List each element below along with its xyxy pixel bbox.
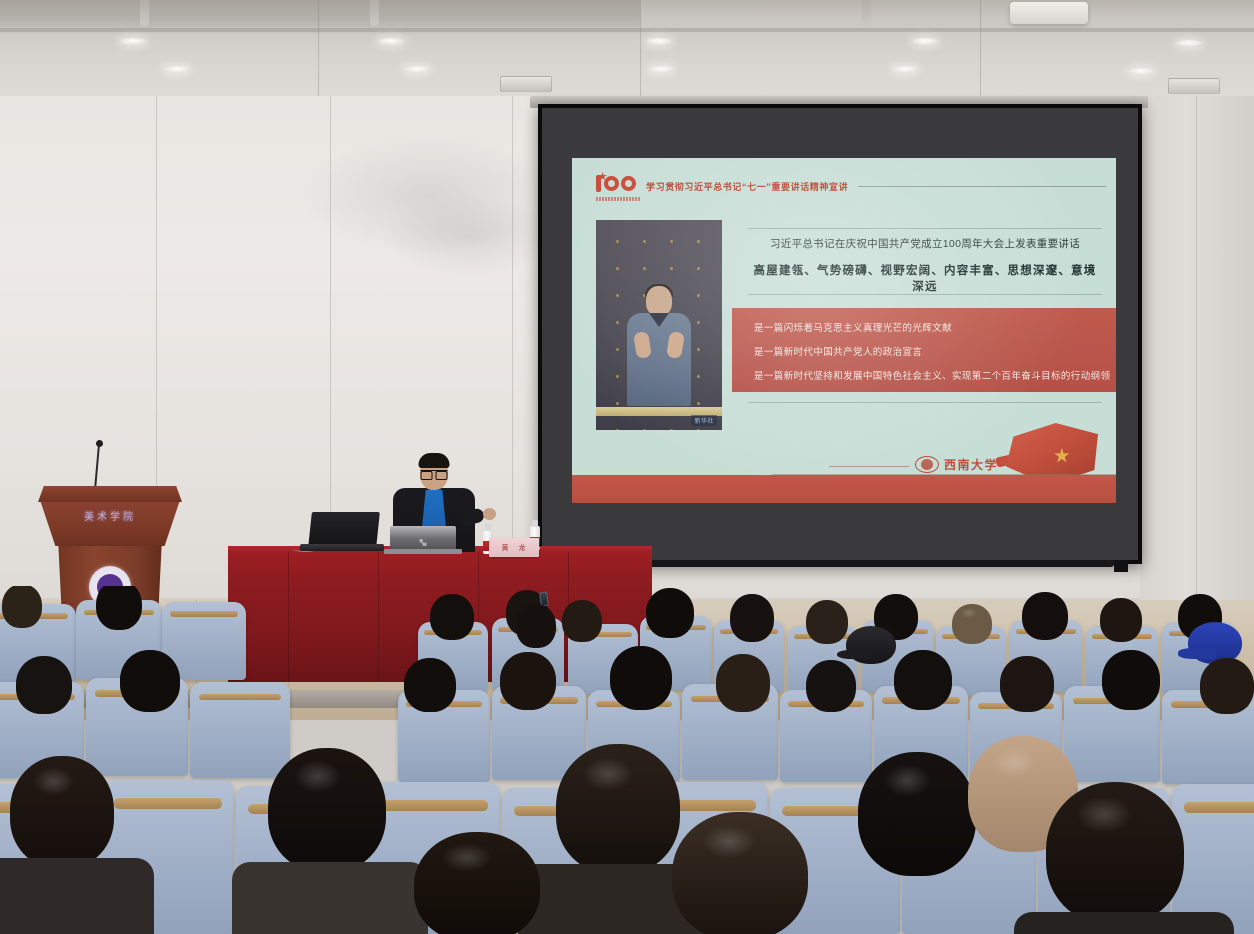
ceiling-downlight	[120, 38, 146, 45]
attendee-head	[120, 650, 180, 712]
photo-watermark: 新华社	[691, 415, 717, 426]
figure-head	[646, 286, 672, 316]
ceiling-band	[0, 28, 1254, 32]
audience-seating	[0, 586, 1254, 934]
attendee-head-foreground	[414, 832, 540, 934]
university-seal-icon	[915, 456, 939, 473]
presentation-slide: 学习贯彻习近平总书记“七一”重要讲话精神宣讲 新华社	[572, 158, 1116, 503]
attendee-head-foreground	[10, 756, 114, 868]
bottle-cap	[485, 524, 491, 531]
ceiling-drop	[140, 0, 149, 26]
attendee-head-foreground	[556, 744, 680, 874]
attendee-head	[1200, 658, 1254, 714]
ceiling-downlight	[892, 66, 918, 73]
screen-surface: 学习贯彻习近平总书记“七一”重要讲话精神宣讲 新华社	[542, 108, 1138, 560]
speaker-hair	[419, 453, 450, 468]
attendee-head-foreground	[268, 748, 386, 872]
laptop-open-base[interactable]	[300, 544, 384, 551]
ceiling-downlight	[1176, 40, 1202, 47]
red-panel-line-1: 是一篇闪烁着马克思主义真理光芒的光辉文献	[754, 320, 1106, 334]
attendee-head	[1022, 592, 1068, 640]
placard-char-2: 龙	[519, 543, 527, 553]
logo-digit-0-b	[621, 176, 636, 191]
ceiling	[0, 0, 1254, 96]
seat[interactable]	[190, 682, 290, 778]
ceiling-downlight	[404, 66, 430, 73]
ceiling-seam	[318, 0, 319, 96]
attendee-head	[610, 646, 672, 710]
ceiling-seam	[640, 0, 641, 96]
ceiling-vent	[500, 76, 552, 92]
ceiling-light-fixture	[1010, 2, 1088, 24]
attendee-head	[730, 594, 774, 642]
ceiling-vent	[1168, 78, 1220, 94]
attendee-head	[404, 658, 456, 712]
attendee-head	[516, 604, 556, 648]
logo-digit-1	[596, 175, 601, 192]
ceiling-seam	[980, 0, 981, 96]
attendee-head	[562, 600, 602, 642]
attendee-head	[952, 604, 992, 644]
slide-hairline-mid	[748, 294, 1102, 295]
attendee-head	[96, 586, 142, 630]
ceiling-downlight	[1128, 68, 1154, 75]
attendee-head	[1100, 598, 1142, 642]
attendee-shoulders	[232, 862, 428, 934]
lectern-top	[38, 486, 182, 502]
slide-red-panel: 是一篇闪烁着马克思主义真理光芒的光辉文献 是一篇新时代中国共产党人的政治宣言 是…	[732, 308, 1116, 392]
attendee-shoulders	[0, 858, 154, 934]
ceiling-downlight	[378, 38, 404, 45]
cpc-100-anniversary-logo	[596, 174, 642, 198]
cap-brim	[1178, 648, 1216, 659]
logo-digit-0-a	[604, 176, 619, 191]
slide-line-2: 高屋建瓴、气势磅礴、视野宏阔、内容丰富、思想深邃、意境深远	[748, 262, 1102, 294]
attendee-head	[646, 588, 694, 638]
attendee-head-foreground	[672, 812, 808, 934]
speaker-glasses-icon	[421, 470, 448, 477]
attendee-head	[894, 650, 952, 710]
ceiling-downlight	[648, 66, 674, 73]
attendee-shoulders	[1014, 912, 1234, 934]
red-panel-line-2: 是一篇新时代中国共产党人的政治宣言	[754, 344, 1106, 358]
slide-header: 学习贯彻习近平总书记“七一”重要讲话精神宣讲	[596, 174, 1106, 198]
name-placard: 黄 龙	[489, 538, 539, 557]
photo-figure	[622, 286, 696, 406]
lectern-slope	[40, 500, 180, 546]
ceiling-downlight	[912, 38, 938, 45]
laptop-open-screen[interactable]	[308, 512, 380, 548]
red-panel-line-3: 是一篇新时代坚持和发展中国特色社会主义、实现第二个百年奋斗目标的行动纲领	[754, 368, 1106, 382]
ceiling-drop	[862, 0, 871, 26]
laptop-tablet-base[interactable]	[384, 549, 462, 554]
attendee-head	[806, 600, 848, 644]
ceiling-downlight	[164, 66, 190, 73]
slide-hairline-top	[748, 228, 1102, 229]
wall-seam	[1196, 96, 1197, 616]
laptop-logo-icon	[420, 539, 427, 546]
attendee-head	[716, 654, 770, 712]
attendee-head-foreground	[1046, 782, 1184, 924]
attendee-head	[430, 594, 474, 640]
bottle-cap	[532, 520, 538, 527]
slide-header-title: 学习贯彻习近平总书记“七一”重要讲话精神宣讲	[646, 180, 848, 193]
right-wall-panel	[1140, 96, 1254, 616]
placard-char-1: 黄	[502, 543, 510, 553]
ceiling-drop	[370, 0, 379, 26]
lecture-hall-photo: 学习贯彻习近平总书记“七一”重要讲话精神宣讲 新华社	[0, 0, 1254, 934]
cap-brim	[837, 650, 872, 660]
slide-header-rule	[858, 186, 1106, 187]
attendee-head	[1000, 656, 1054, 712]
slide-photo: 新华社	[596, 220, 722, 430]
attendee-head-foreground	[858, 752, 976, 876]
slide-hairline-bottom	[748, 402, 1102, 403]
university-name: 西南大学	[944, 456, 998, 473]
logo-side-rule	[829, 466, 909, 467]
attendee-head	[16, 656, 72, 714]
attendee-dark-cap	[846, 626, 896, 664]
logo-subtext	[596, 197, 640, 201]
university-logo: 西南大学	[915, 456, 998, 473]
attendee-head	[2, 586, 42, 628]
ceiling-downlight	[646, 38, 672, 45]
lectern-label: 美术学院	[38, 508, 182, 523]
podium-microphone-head	[96, 440, 103, 447]
attendee-head	[500, 652, 556, 710]
seal-inner	[921, 459, 933, 470]
slide-line-1: 习近平总书记在庆祝中国共产党成立100周年大会上发表重要讲话	[748, 236, 1102, 251]
screen-foot-right	[1114, 560, 1128, 572]
attendee-head	[806, 660, 856, 712]
slide-footer-band	[572, 475, 1116, 503]
projection-screen: 学习贯彻习近平总书记“七一”重要讲话精神宣讲 新华社	[538, 104, 1142, 564]
wall-smudge	[380, 196, 560, 276]
attendee-head	[1102, 650, 1160, 710]
speaker-hand	[483, 508, 496, 520]
